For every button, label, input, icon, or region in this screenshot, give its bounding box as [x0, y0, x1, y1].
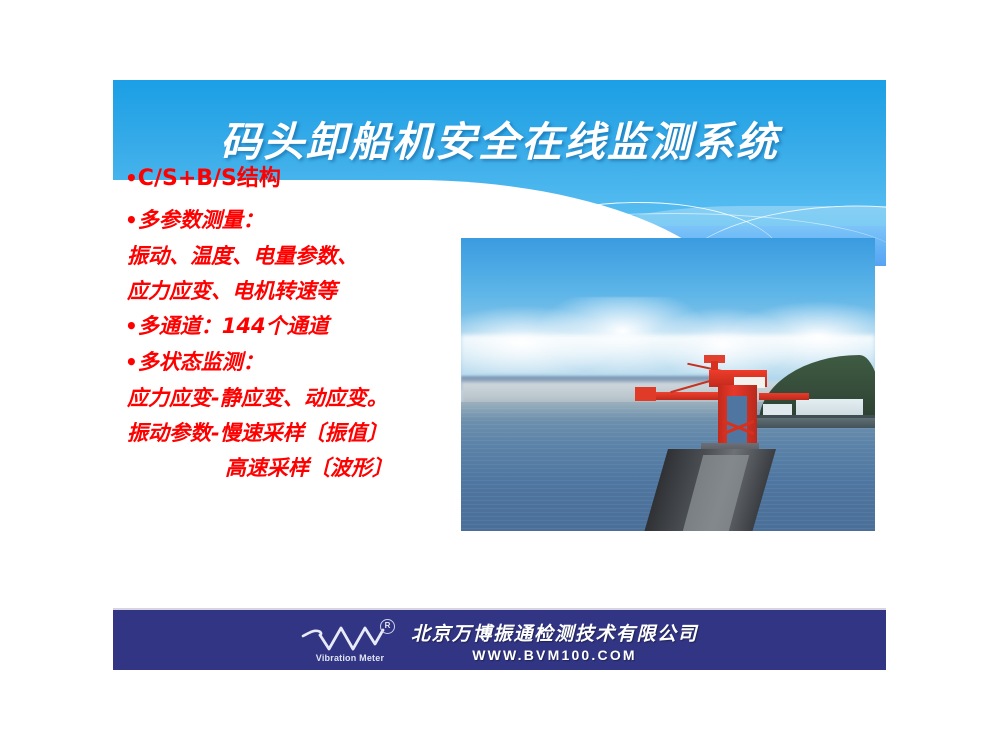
footer-bar: R Vibration Meter 北京万博振通检测技术有限公司 WWW.BVM…	[113, 608, 886, 670]
vibration-meter-logo: R Vibration Meter	[301, 620, 397, 662]
company-website: WWW.BVM100.COM	[411, 647, 698, 663]
page-title: 码头卸船机安全在线监测系统	[113, 108, 886, 168]
company-name: 北京万博振通检测技术有限公司	[411, 619, 698, 646]
list-item: •多状态监测：	[125, 352, 485, 373]
list-item: •多参数测量：	[125, 210, 485, 231]
slide-canvas: 码头卸船机安全在线监测系统 •C/S+B/S结构 •多参数测量： 振动、温度、电…	[113, 80, 886, 670]
dock-unloader-photo	[461, 238, 875, 531]
list-item-label: 多参数测量：	[138, 208, 264, 232]
list-item-label: 多通道：144个通道	[138, 314, 329, 338]
list-item-label: 应力应变、电机转速等	[127, 279, 337, 303]
bullet-marker: •	[125, 208, 138, 232]
list-item: •C/S+B/S结构	[125, 168, 485, 190]
logo-caption: Vibration Meter	[303, 653, 397, 663]
list-item-label: 应力应变-静应变、动应变。	[127, 386, 388, 410]
list-item: •多通道：144个通道	[125, 316, 485, 337]
list-item-label: 高速采样〔波形〕	[225, 456, 393, 480]
list-item: 振动、温度、电量参数、	[125, 246, 485, 267]
footer-content: R Vibration Meter 北京万博振通检测技术有限公司 WWW.BVM…	[301, 619, 698, 663]
footer-text-block: 北京万博振通检测技术有限公司 WWW.BVM100.COM	[411, 619, 698, 663]
bullet-marker: •	[125, 350, 138, 374]
photo-shore-building	[796, 399, 862, 417]
registered-trademark-icon: R	[380, 619, 395, 634]
list-item: 振动参数-慢速采样〔振值〕	[125, 423, 485, 444]
crane-boom-right	[759, 393, 809, 400]
bullet-marker: •	[125, 314, 138, 338]
list-item-label: 振动、温度、电量参数、	[127, 244, 358, 268]
list-item-label: 振动参数-慢速采样〔振值〕	[127, 421, 388, 445]
bullet-marker: •	[125, 166, 138, 190]
list-item: 应力应变-静应变、动应变。	[125, 388, 485, 409]
list-item: 应力应变、电机转速等	[125, 281, 485, 302]
list-item: 高速采样〔波形〕	[125, 458, 485, 479]
list-item-label: 多状态监测：	[138, 350, 264, 374]
list-item-label: C/S+B/S结构	[138, 166, 281, 191]
crane-boom-tip	[635, 387, 656, 400]
photo-shore-building-2	[763, 404, 792, 416]
bullet-list: •C/S+B/S结构 •多参数测量： 振动、温度、电量参数、 应力应变、电机转速…	[125, 168, 485, 491]
